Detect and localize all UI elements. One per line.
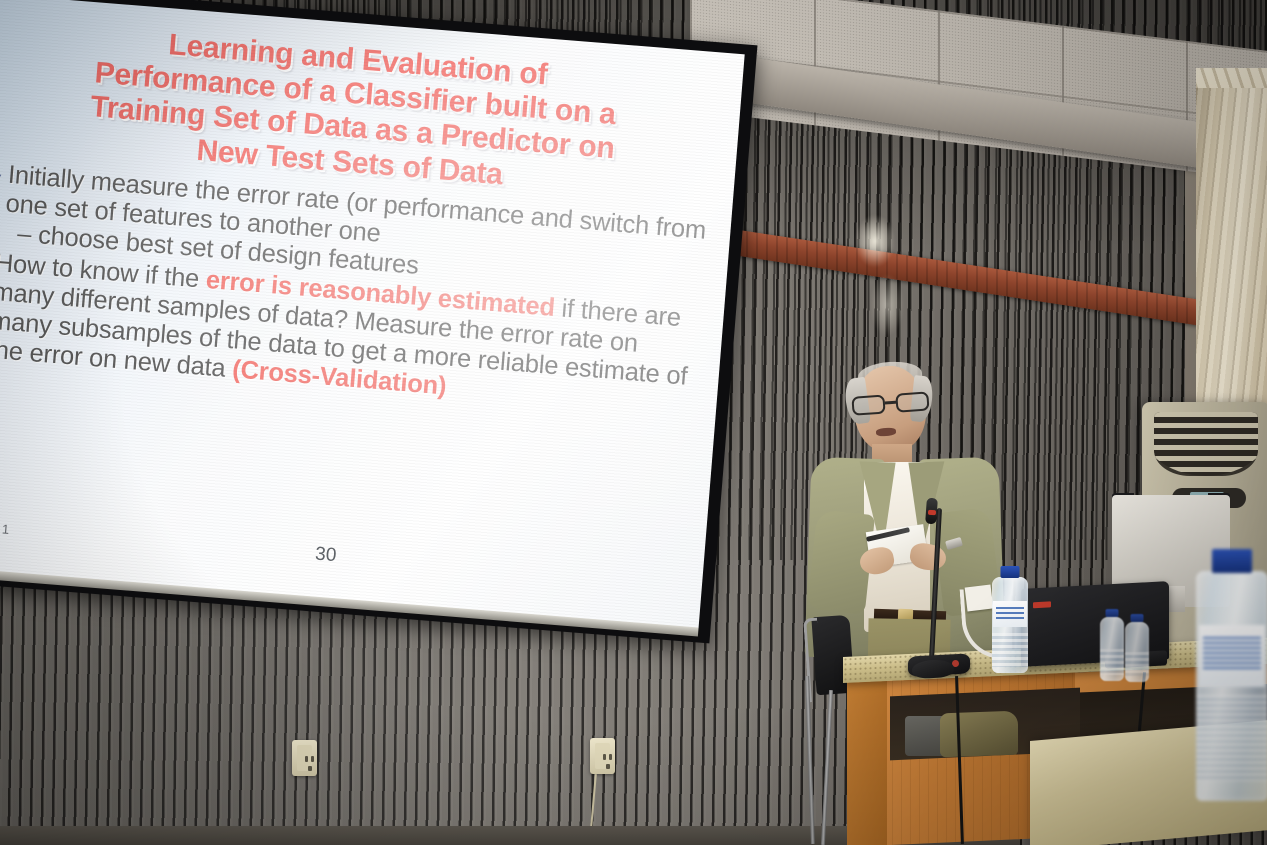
lens-left bbox=[851, 395, 885, 416]
bottle-cap bbox=[1212, 549, 1252, 573]
bottle-label-text bbox=[996, 607, 1025, 621]
bottle-ridges bbox=[1100, 649, 1124, 675]
outlet-face bbox=[595, 743, 610, 769]
wall-glare-highlight bbox=[855, 215, 895, 267]
bottle-cap bbox=[1106, 609, 1119, 617]
water-bottle-on-lectern[interactable] bbox=[992, 577, 1028, 673]
wall-outlet-right bbox=[590, 738, 615, 774]
projection-screen: Learning and Evaluation of Performance o… bbox=[0, 0, 757, 643]
lecture-room-photo: Learning and Evaluation of Performance o… bbox=[0, 0, 1267, 845]
wall-outlet-left bbox=[292, 740, 317, 776]
lens-right bbox=[895, 391, 929, 412]
outlet-ground-hole bbox=[308, 766, 312, 771]
outlet-hole bbox=[311, 756, 314, 762]
outlet-hole bbox=[609, 754, 612, 760]
white-card-on-desk bbox=[965, 585, 994, 612]
presentation-slide: Learning and Evaluation of Performance o… bbox=[0, 0, 745, 629]
wall-glare-highlight-secondary bbox=[870, 274, 904, 336]
projection-screen-surface: Learning and Evaluation of Performance o… bbox=[0, 0, 745, 629]
bottle-cap bbox=[1131, 614, 1144, 622]
lectern-side-panel bbox=[847, 670, 887, 845]
bottle-ridges bbox=[1125, 652, 1149, 676]
microphone-indicator-light bbox=[928, 510, 936, 516]
outlet-hole bbox=[603, 754, 606, 760]
slide-footer-source: cation, Chapter 1 bbox=[0, 514, 10, 537]
bottle-label-text bbox=[1203, 637, 1261, 671]
sub-bullet-dash: – bbox=[16, 220, 32, 249]
outlet-hole bbox=[305, 756, 308, 762]
bullet-dash: – bbox=[0, 158, 2, 186]
bottle-cap bbox=[1001, 566, 1020, 578]
water-bottle-foreground[interactable] bbox=[1196, 571, 1267, 801]
water-bottle-background bbox=[1100, 617, 1124, 681]
bottle-ridges bbox=[992, 633, 1028, 667]
air-conditioner-grille bbox=[1154, 412, 1258, 476]
outlet-face bbox=[297, 745, 312, 771]
slide-page-number: 30 bbox=[314, 543, 337, 567]
laptop-logo bbox=[1033, 601, 1051, 608]
water-bottle-background bbox=[1125, 622, 1149, 682]
bottle-ridges bbox=[1196, 695, 1267, 781]
lectern-shelf-bag bbox=[940, 711, 1018, 758]
outlet-ground-hole bbox=[606, 764, 610, 769]
